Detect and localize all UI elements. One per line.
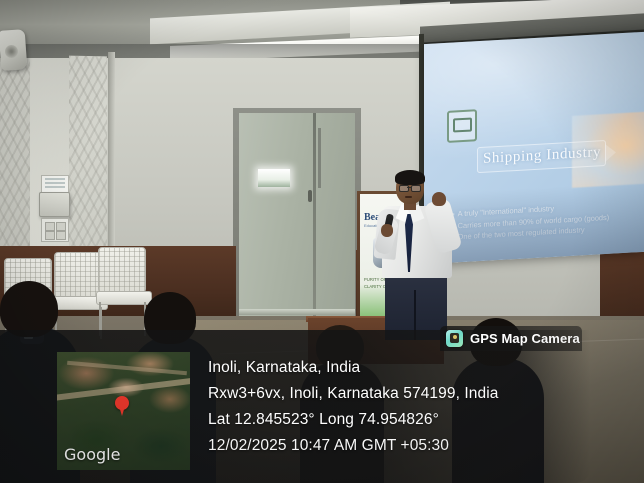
presenter-raised-hand [432, 192, 446, 206]
location-pin-icon [115, 396, 129, 410]
door-center-seam [313, 113, 316, 320]
presenter-glasses-right-lens [411, 185, 421, 192]
map-road-secondary [67, 361, 187, 375]
presenter-glasses-bridge [407, 187, 411, 188]
gps-map-camera-app-icon [446, 330, 463, 347]
screenshot-root: Shipping Industry ▪A truly "Internationa… [0, 0, 644, 483]
gps-timestamp-line: 12/02/2025 10:47 AM GMT +05:30 [208, 433, 588, 459]
slide-institution-logo-icon [447, 109, 477, 143]
wall-socket-plate [41, 218, 69, 242]
presenter-mic-hand [381, 224, 393, 237]
gps-map-camera-badge: GPS Map Camera [440, 326, 582, 351]
gps-address-line: Rxw3+6vx, Inoli, Karnataka 574199, India [208, 381, 588, 407]
wall-sign [41, 175, 69, 193]
presenter-hair [395, 170, 425, 185]
google-watermark: Google [64, 445, 120, 464]
electrical-switchboard [39, 192, 70, 217]
door-window-panel [258, 169, 290, 187]
door-kick-plate [239, 309, 355, 315]
screen-bottom-shading [424, 182, 644, 264]
door-handle-icon [308, 190, 312, 202]
gps-place-line: Inoli, Karnataka, India [208, 355, 588, 381]
double-door [239, 113, 355, 320]
gps-coordinates-line: Lat 12.845523° Long 74.954826° [208, 407, 588, 433]
audience-head [0, 281, 58, 337]
door-push-bar [318, 128, 321, 188]
gps-map-camera-label: GPS Map Camera [470, 331, 580, 346]
gps-stamp-text: Inoli, Karnataka, India Rxw3+6vx, Inoli,… [208, 355, 588, 459]
map-thumbnail[interactable]: Google [57, 352, 190, 470]
presenter-mouth [405, 196, 412, 198]
wood-wainscot-far-right [600, 252, 644, 322]
